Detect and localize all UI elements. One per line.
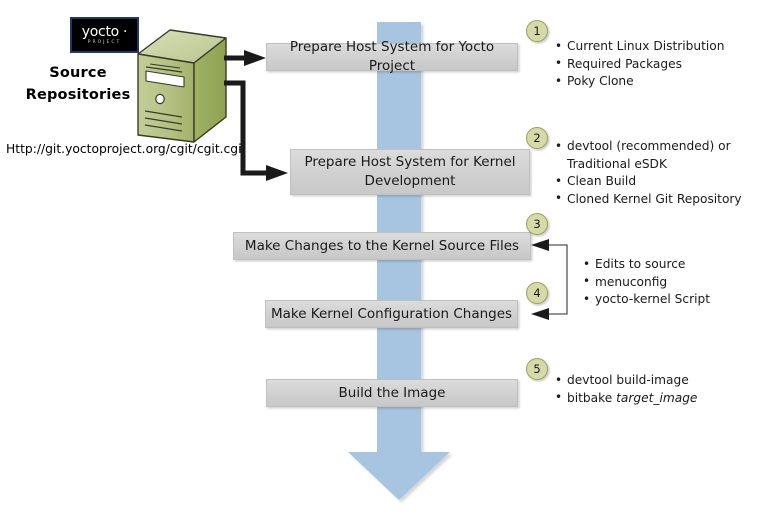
server-icon (134, 27, 230, 145)
yocto-project-logo: yocto · PROJECT (70, 17, 139, 53)
step-badge-2-number: 2 (533, 131, 540, 145)
step-badge-1: 1 (526, 20, 548, 42)
list-item: yocto-kernel Script (583, 291, 710, 309)
list-item: menuconfig (583, 274, 710, 292)
list-item-line1: devtool (recommended) or (567, 138, 742, 156)
list-item: Current Linux Distribution (555, 38, 724, 56)
process-box-prepare-host-kernel[interactable]: Prepare Host System for Kernel Developme… (290, 149, 530, 195)
step-badge-5-number: 5 (533, 362, 540, 376)
process-box-5-label: Build the Image (339, 384, 446, 403)
logo-subtitle: PROJECT (88, 41, 121, 46)
list-item: devtool build-image (555, 372, 697, 390)
step-badge-4: 4 (526, 282, 548, 304)
step-badge-1-number: 1 (533, 24, 540, 38)
process-box-2-label-line2: Development (365, 173, 456, 189)
step-badge-4-number: 4 (533, 286, 540, 300)
step-badge-2: 2 (526, 127, 548, 149)
step-5-bullets: devtool build-image bitbake target_image (555, 372, 697, 407)
list-item: Poky Clone (555, 73, 724, 91)
process-box-2-label: Prepare Host System for Kernel Developme… (304, 153, 515, 191)
list-item: Edits to source (583, 256, 710, 274)
logo-wordmark: yocto · (82, 25, 127, 39)
process-box-make-source-changes[interactable]: Make Changes to the Kernel Source Files (233, 232, 531, 260)
step-badge-5: 5 (526, 358, 548, 380)
step-badge-3-number: 3 (533, 217, 540, 231)
list-item-command: bitbake (567, 391, 616, 405)
list-item: Required Packages (555, 56, 724, 74)
process-box-4-label: Make Kernel Configuration Changes (271, 305, 512, 324)
list-item: bitbake target_image (555, 390, 697, 408)
process-box-build-image[interactable]: Build the Image (266, 379, 518, 407)
process-box-prepare-host-yocto[interactable]: Prepare Host System for Yocto Project (266, 43, 518, 71)
diagram-canvas: yocto · PROJECT Source Repositories Http… (0, 0, 769, 517)
source-repositories-line1: Source (18, 62, 138, 84)
list-item-argument: target_image (616, 391, 697, 405)
process-box-2-label-line1: Prepare Host System for Kernel (304, 154, 515, 170)
process-box-make-config-changes[interactable]: Make Kernel Configuration Changes (265, 300, 518, 328)
list-item-line2: Traditional eSDK (567, 156, 742, 174)
process-box-3-label: Make Changes to the Kernel Source Files (245, 237, 519, 256)
step-2-bullets: devtool (recommended) or Traditional eSD… (555, 138, 742, 208)
process-box-1-label: Prepare Host System for Yocto Project (267, 38, 517, 76)
list-item: Clean Build (555, 173, 742, 191)
step-badge-3: 3 (526, 213, 548, 235)
list-item: devtool (recommended) or Traditional eSD… (555, 138, 742, 173)
source-repositories-line2: Repositories (18, 84, 138, 106)
step-1-bullets: Current Linux Distribution Required Pack… (555, 38, 724, 91)
steps-3-and-4-shared-bullets: Edits to source menuconfig yocto-kernel … (583, 256, 710, 309)
source-repositories-label: Source Repositories (18, 62, 138, 106)
list-item: Cloned Kernel Git Repository (555, 191, 742, 209)
